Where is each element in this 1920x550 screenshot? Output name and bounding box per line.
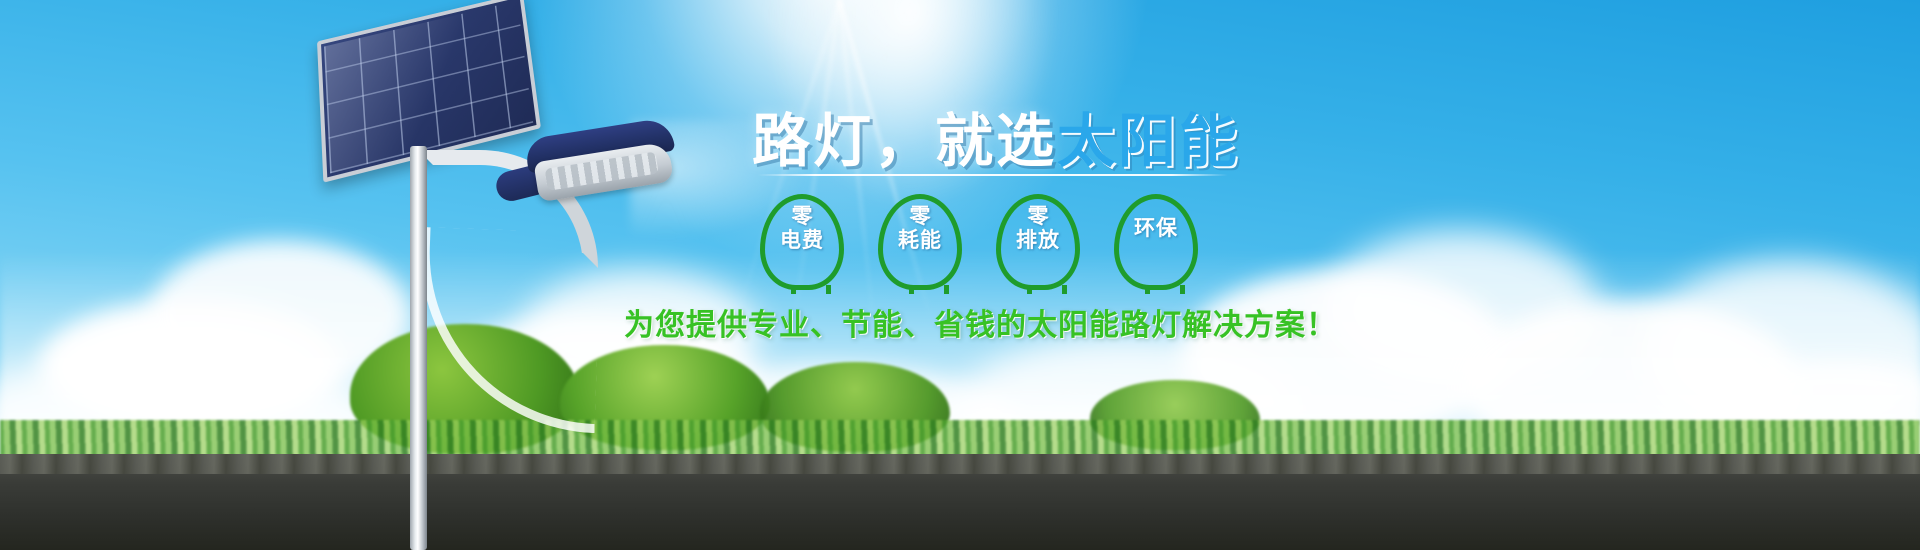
bulb-icon <box>1114 194 1198 290</box>
banner-root: 路灯，就选太阳能 零 电费 零 耗能 零 排放 环保 <box>0 0 1920 550</box>
headline-accent: 太阳能 <box>1057 107 1240 175</box>
badge-label-2: 排放 <box>996 228 1080 253</box>
feature-badge-0: 零 电费 <box>760 194 844 290</box>
badge-label-0: 电费 <box>760 228 844 253</box>
badge-label-1: 耗能 <box>878 228 962 253</box>
feature-badge-list: 零 电费 零 耗能 零 排放 环保 <box>760 194 1230 290</box>
feature-badge-3: 环保 <box>1114 194 1198 290</box>
badge-label-3: 环保 <box>1114 216 1198 241</box>
badge-top-0: 零 <box>760 204 844 229</box>
divider <box>758 174 1228 176</box>
lamp-pole <box>410 146 427 550</box>
headline-lead: 路灯，就选 <box>752 107 1057 175</box>
lamp-cable <box>415 227 602 433</box>
badge-top-2: 零 <box>996 204 1080 229</box>
stone-wall <box>0 454 1920 550</box>
badge-top-1: 零 <box>878 204 962 229</box>
feature-badge-1: 零 耗能 <box>878 194 962 290</box>
subtitle: 为您提供专业、节能、省钱的太阳能路灯解决方案！ <box>624 300 1337 344</box>
feature-badge-2: 零 排放 <box>996 194 1080 290</box>
page-title: 路灯，就选太阳能 <box>752 94 1240 178</box>
marketing-copy: 路灯，就选太阳能 零 电费 零 耗能 零 排放 环保 <box>600 78 1240 408</box>
